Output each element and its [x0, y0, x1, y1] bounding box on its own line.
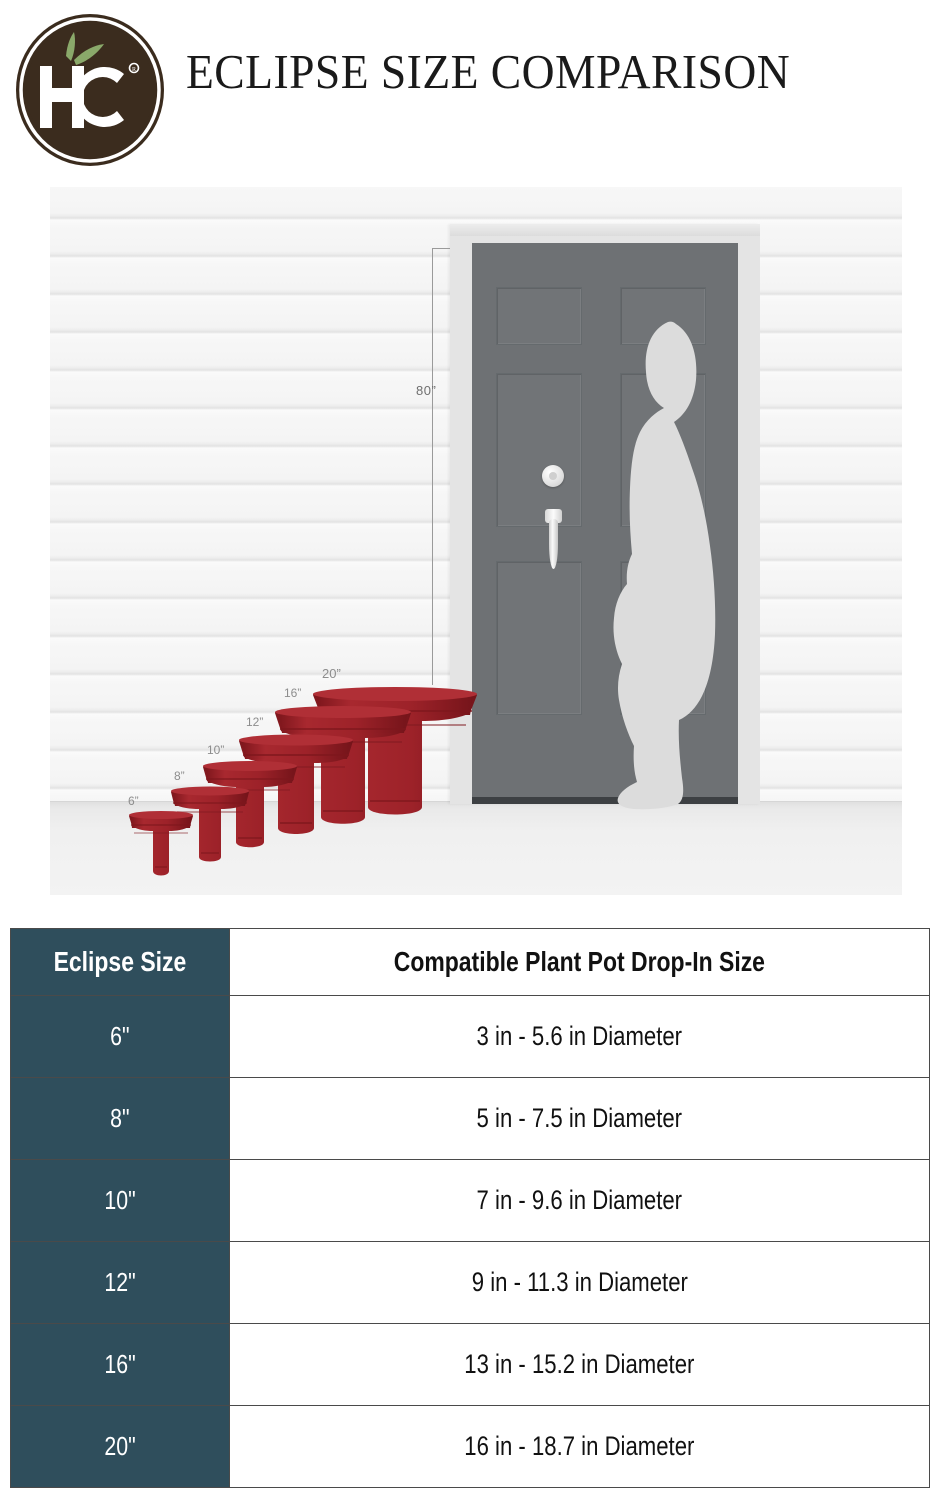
cell-eclipse-size-value: 10": [104, 1185, 135, 1216]
table-header-row: Eclipse Size Compatible Plant Pot Drop-I…: [11, 929, 930, 996]
pot-6in: [126, 809, 196, 881]
cell-eclipse-size: 20": [11, 1406, 230, 1488]
column-header-eclipse-size-label: Eclipse Size: [54, 946, 187, 978]
page-title: ECLIPSE SIZE COMPARISON: [186, 46, 874, 97]
column-header-eclipse-size: Eclipse Size: [11, 929, 230, 996]
door-height-label: 80”: [416, 383, 436, 398]
table-row: 6" 3 in - 5.6 in Diameter: [11, 996, 930, 1078]
cell-eclipse-size-value: 20": [104, 1431, 135, 1462]
door-handle-icon: [545, 509, 562, 571]
person-silhouette: [606, 316, 746, 816]
door-panel: [496, 561, 582, 715]
cell-eclipse-size-value: 8": [110, 1103, 129, 1134]
cell-eclipse-size: 8": [11, 1078, 230, 1160]
cell-eclipse-size: 12": [11, 1242, 230, 1324]
pot-label-6in: 6”: [128, 794, 139, 808]
cell-compatible-size-value: 5 in - 7.5 in Diameter: [477, 1103, 682, 1134]
cell-compatible-size: 16 in - 18.7 in Diameter: [230, 1406, 930, 1488]
door-panel: [496, 287, 582, 345]
cell-compatible-size-value: 13 in - 15.2 in Diameter: [464, 1349, 694, 1380]
cell-compatible-size-value: 7 in - 9.6 in Diameter: [477, 1185, 682, 1216]
cell-eclipse-size: 6": [11, 996, 230, 1078]
cell-eclipse-size: 10": [11, 1160, 230, 1242]
pot-label-16in: 16”: [284, 686, 301, 700]
brand-logo: R: [12, 12, 168, 168]
cell-eclipse-size-value: 12": [104, 1267, 135, 1298]
door-frame-header: [450, 224, 760, 236]
cell-compatible-size-value: 16 in - 18.7 in Diameter: [464, 1431, 694, 1462]
cell-compatible-size-value: 9 in - 11.3 in Diameter: [471, 1267, 687, 1298]
hc-logo-icon: R: [12, 12, 168, 168]
pot-label-10in: 10”: [207, 743, 224, 757]
cell-compatible-size: 7 in - 9.6 in Diameter: [230, 1160, 930, 1242]
door-knob-icon: [542, 465, 564, 487]
cell-eclipse-size-value: 6": [110, 1021, 129, 1052]
door-handle-lever: [549, 519, 558, 569]
door-panel: [496, 373, 582, 527]
cell-compatible-size: 13 in - 15.2 in Diameter: [230, 1324, 930, 1406]
cell-compatible-size: 9 in - 11.3 in Diameter: [230, 1242, 930, 1324]
door-knob-core: [549, 472, 557, 480]
table-row: 8" 5 in - 7.5 in Diameter: [11, 1078, 930, 1160]
cell-compatible-size: 3 in - 5.6 in Diameter: [230, 996, 930, 1078]
cell-eclipse-size: 16": [11, 1324, 230, 1406]
table-row: 16" 13 in - 15.2 in Diameter: [11, 1324, 930, 1406]
cell-eclipse-size-value: 16": [104, 1349, 135, 1380]
table-row: 10" 7 in - 9.6 in Diameter: [11, 1160, 930, 1242]
size-comparison-photo: 80” 20” 16”: [50, 187, 902, 895]
door-height-dimension-line: [432, 248, 433, 685]
dimension-line-cap: [432, 248, 450, 249]
table-row: 12" 9 in - 11.3 in Diameter: [11, 1242, 930, 1324]
svg-text:R: R: [132, 67, 136, 73]
column-header-compatible-size: Compatible Plant Pot Drop-In Size: [230, 929, 930, 996]
pot-label-12in: 12”: [246, 715, 263, 729]
pot-label-8in: 8”: [174, 769, 185, 783]
column-header-compatible-size-label: Compatible Plant Pot Drop-In Size: [394, 946, 765, 978]
table-row: 20" 16 in - 18.7 in Diameter: [11, 1406, 930, 1488]
pot-label-20in: 20”: [322, 666, 341, 681]
eclipse-size-table: Eclipse Size Compatible Plant Pot Drop-I…: [10, 928, 930, 1488]
cell-compatible-size: 5 in - 7.5 in Diameter: [230, 1078, 930, 1160]
page-header: R ECLIPSE SIZE COMPARISON: [0, 0, 940, 180]
cell-compatible-size-value: 3 in - 5.6 in Diameter: [477, 1021, 682, 1052]
